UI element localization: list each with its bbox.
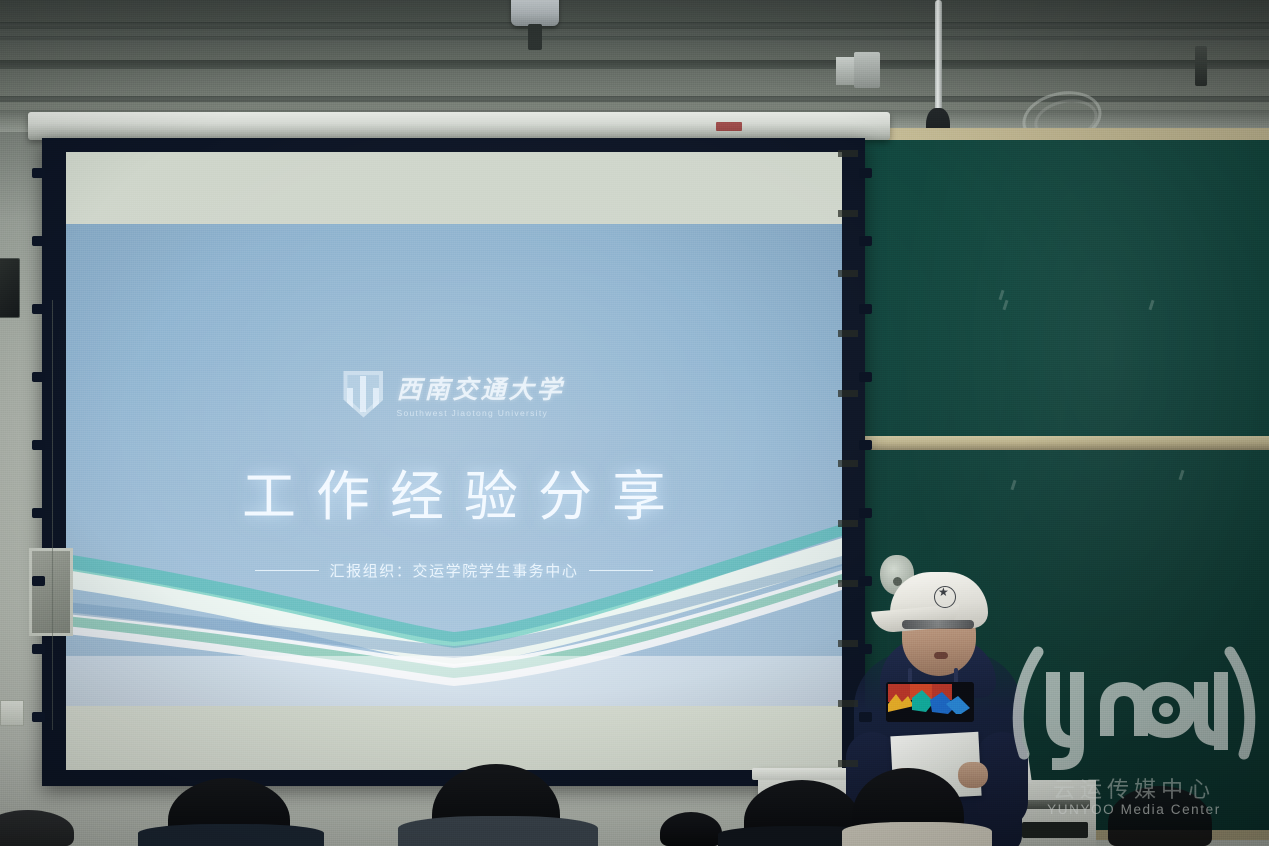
chalkboard-rail-notch xyxy=(838,460,858,467)
screen-tension-tab xyxy=(859,372,872,382)
hoodie-graphic-print xyxy=(886,682,974,722)
screen-tension-tab xyxy=(859,508,872,518)
chalkboard-rail-notch xyxy=(838,700,858,707)
detector-stem xyxy=(528,24,542,50)
wall-speaker-icon xyxy=(0,258,20,318)
screen-tension-tab xyxy=(32,712,45,722)
university-logo: 西南交通大学 Southwest Jiaotong University xyxy=(66,370,842,418)
audience-head xyxy=(660,812,722,846)
wall-access-panel xyxy=(29,548,73,636)
ceiling-beam xyxy=(0,22,1269,29)
ceiling-beam xyxy=(0,36,1269,40)
chalkboard-rail-notch xyxy=(838,760,858,767)
screen-tension-tab xyxy=(32,644,45,654)
smoke-detector-icon xyxy=(511,0,559,26)
chalkboard-rail-notch xyxy=(838,150,858,157)
casing-label-icon xyxy=(716,122,742,131)
classroom-photo-scene: 西南交通大学 Southwest Jiaotong University 工作经… xyxy=(0,0,1269,846)
chalkboard-rail-notch xyxy=(838,580,858,587)
chalkboard-rail-notch xyxy=(838,640,858,647)
ceiling-hook xyxy=(1195,46,1207,86)
projection-screen-surface: 西南交通大学 Southwest Jiaotong University 工作经… xyxy=(66,152,842,770)
screen-tension-tab xyxy=(32,576,45,586)
ceiling-beam xyxy=(0,60,1269,69)
university-name-en: Southwest Jiaotong University xyxy=(396,408,564,418)
swjtu-shield-emblem-icon xyxy=(343,371,383,418)
chalkboard-rail-notch xyxy=(838,270,858,277)
screen-tension-tab xyxy=(32,440,45,450)
screen-tension-tab xyxy=(32,508,45,518)
hoodie-print-svg xyxy=(886,682,974,722)
screen-casing xyxy=(28,112,890,140)
audience-shoulder xyxy=(138,824,324,846)
screen-tension-tab xyxy=(32,304,45,314)
screen-tension-tab xyxy=(859,712,872,722)
screen-tension-tab xyxy=(32,236,45,246)
chalkboard-rail-notch xyxy=(838,210,858,217)
wall-wire xyxy=(52,300,53,730)
light-switch[interactable] xyxy=(0,700,24,726)
ribbon-svg xyxy=(66,516,842,706)
screen-tension-tab xyxy=(859,168,872,178)
screen-tension-tab xyxy=(859,440,872,450)
screen-tension-tab xyxy=(859,576,872,586)
screen-tension-tab xyxy=(859,644,872,654)
ceiling-mount-bracket xyxy=(854,52,880,88)
chalkboard-rail-notch xyxy=(838,390,858,397)
screen-tension-tab xyxy=(32,372,45,382)
audience-shoulder xyxy=(842,822,992,846)
screen-tension-tab xyxy=(32,168,45,178)
chalkboard-divider-rail xyxy=(858,436,1269,450)
eyeglasses-icon xyxy=(902,620,974,629)
presentation-slide: 西南交通大学 Southwest Jiaotong University 工作经… xyxy=(66,224,842,706)
screen-tension-tab xyxy=(859,304,872,314)
cap-star-emblem-icon xyxy=(934,586,956,608)
slide-ribbon-decoration xyxy=(66,516,842,706)
screen-tension-tab xyxy=(859,236,872,246)
audience-shoulder xyxy=(398,816,598,846)
chalkboard-rail-notch xyxy=(838,330,858,337)
chalkboard-rail-notch xyxy=(838,520,858,527)
presenter-right-hand xyxy=(958,762,988,788)
presenter-mouth xyxy=(934,652,948,659)
university-name-cn: 西南交通大学 xyxy=(396,370,564,406)
hanging-rod xyxy=(935,0,942,118)
